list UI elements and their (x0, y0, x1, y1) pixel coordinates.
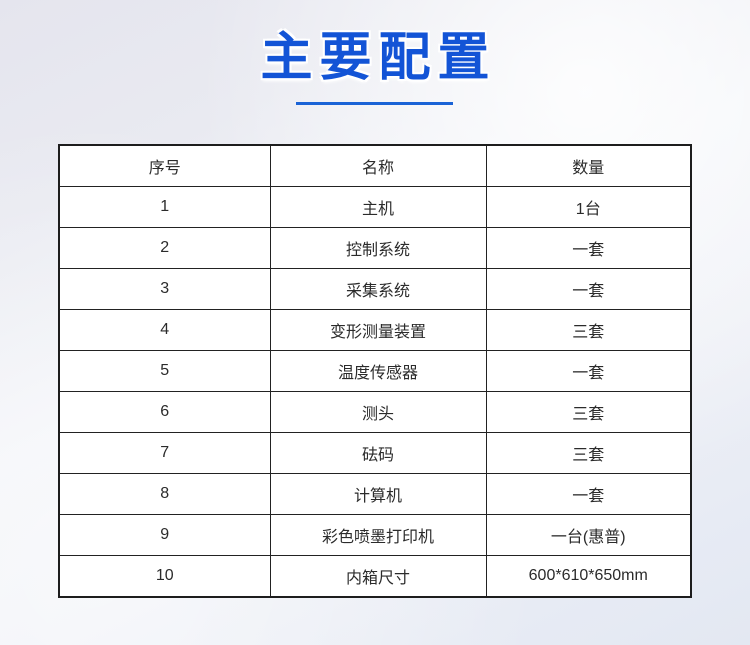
cell-quantity: 三套 (486, 310, 691, 351)
cell-index: 4 (59, 310, 270, 351)
table-row: 10内箱尺寸600*610*650mm (59, 556, 691, 598)
cell-name: 采集系统 (270, 269, 486, 310)
table-row: 2控制系统一套 (59, 228, 691, 269)
cell-name: 彩色喷墨打印机 (270, 515, 486, 556)
column-header-name: 名称 (270, 145, 486, 187)
cell-quantity: 一套 (486, 269, 691, 310)
configuration-table: 序号 名称 数量 1主机1台2控制系统一套3采集系统一套4变形测量装置三套5温度… (58, 144, 692, 598)
cell-index: 10 (59, 556, 270, 598)
cell-quantity: 三套 (486, 392, 691, 433)
cell-quantity: 三套 (486, 433, 691, 474)
cell-index: 5 (59, 351, 270, 392)
cell-quantity: 一套 (486, 474, 691, 515)
cell-name: 控制系统 (270, 228, 486, 269)
cell-quantity: 一套 (486, 228, 691, 269)
cell-index: 8 (59, 474, 270, 515)
cell-index: 3 (59, 269, 270, 310)
configuration-table-container: 序号 名称 数量 1主机1台2控制系统一套3采集系统一套4变形测量装置三套5温度… (58, 144, 690, 586)
cell-index: 2 (59, 228, 270, 269)
column-header-index: 序号 (59, 145, 270, 187)
table-row: 5温度传感器一套 (59, 351, 691, 392)
cell-quantity: 600*610*650mm (486, 556, 691, 598)
cell-index: 6 (59, 392, 270, 433)
cell-quantity: 一套 (486, 351, 691, 392)
cell-quantity: 一台(惠普) (486, 515, 691, 556)
cell-name: 砝码 (270, 433, 486, 474)
table-row: 6测头三套 (59, 392, 691, 433)
cell-index: 9 (59, 515, 270, 556)
cell-name: 测头 (270, 392, 486, 433)
table-row: 4变形测量装置三套 (59, 310, 691, 351)
cell-index: 1 (59, 187, 270, 228)
title-underline-accent (296, 102, 453, 105)
cell-name: 温度传感器 (270, 351, 486, 392)
table-row: 1主机1台 (59, 187, 691, 228)
table-row: 7砝码三套 (59, 433, 691, 474)
cell-name: 内箱尺寸 (270, 556, 486, 598)
cell-name: 计算机 (270, 474, 486, 515)
page-title: 主要配置 (0, 28, 750, 90)
table-header: 序号 名称 数量 (59, 145, 691, 187)
cell-name: 主机 (270, 187, 486, 228)
cell-quantity: 1台 (486, 187, 691, 228)
column-header-quantity: 数量 (486, 145, 691, 187)
cell-index: 7 (59, 433, 270, 474)
table-row: 3采集系统一套 (59, 269, 691, 310)
table-body: 1主机1台2控制系统一套3采集系统一套4变形测量装置三套5温度传感器一套6测头三… (59, 187, 691, 598)
table-header-row: 序号 名称 数量 (59, 145, 691, 187)
table-row: 9彩色喷墨打印机一台(惠普) (59, 515, 691, 556)
page-header: 主要配置 (0, 0, 750, 130)
table-row: 8计算机一套 (59, 474, 691, 515)
page-root: 主要配置 序号 名称 数量 1主机1台2控制系统一套3采集系统一套4变形测量装置… (0, 0, 750, 645)
cell-name: 变形测量装置 (270, 310, 486, 351)
